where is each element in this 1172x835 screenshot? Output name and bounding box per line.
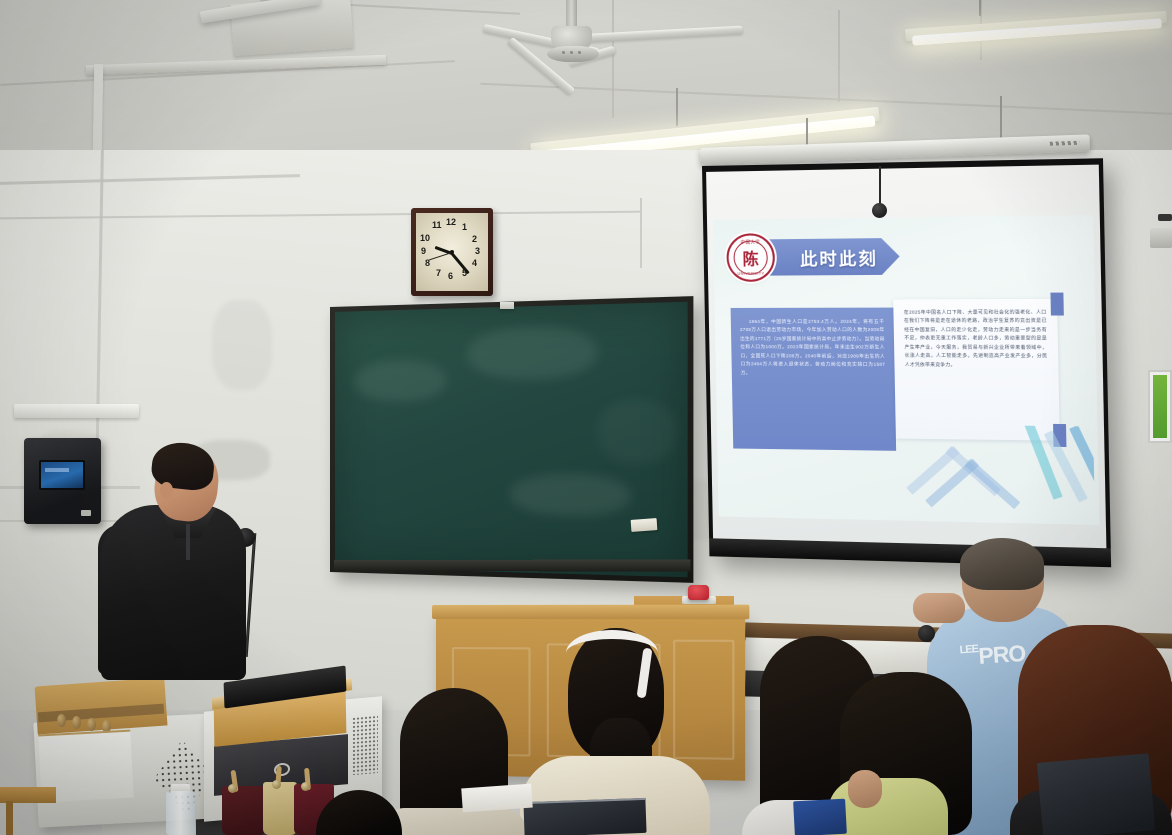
blue-folder: [793, 799, 847, 835]
seal-bottom-text: UNIVERSITY: [729, 271, 773, 276]
speaker-placket: [186, 524, 190, 560]
slide-title: 此时此刻: [800, 244, 878, 270]
clock-number: 10: [420, 233, 430, 243]
yellow-green-hand: [848, 770, 882, 808]
clock-number: 9: [421, 246, 426, 256]
handbag-maroon: [222, 786, 266, 835]
chalkboard-top-clip: [500, 302, 514, 309]
green-chalkboard: [330, 296, 693, 583]
clock-number: 7: [436, 268, 441, 278]
clock-number: 11: [432, 220, 442, 230]
clock-number: 1: [462, 222, 467, 232]
classroom-photo: 12 1 2 3 4 5 6 7 8 9 10 11: [0, 0, 1172, 835]
handbag-beige: [263, 782, 297, 835]
clock-second-hand: [429, 252, 452, 260]
red-emergency-button[interactable]: [688, 585, 709, 600]
control-panel-led: [81, 510, 91, 516]
wooden-stool-leg: [6, 801, 13, 835]
wall-av-control-panel[interactable]: [24, 438, 101, 524]
university-seal-icon: 中国大学 陈 UNIVERSITY: [726, 233, 775, 282]
paper-sheet: [461, 784, 533, 813]
screen-pull-cord[interactable]: [879, 166, 881, 206]
water-bottle: [166, 791, 195, 835]
clock-number: 3: [475, 246, 480, 256]
speaker-ear: [160, 482, 173, 499]
chalk-tray: [334, 560, 690, 572]
seal-center-char: 陈: [728, 245, 773, 270]
clock-minute-hand: [451, 252, 470, 274]
slide-text-box-left: 1964年，中国新生人口是2753.4万人。2024年，将有五千2708万人口退…: [731, 308, 897, 451]
projector-mount: [1150, 228, 1172, 248]
blue-shirt-hair: [960, 538, 1044, 590]
blue-shirt-hands: [913, 593, 965, 623]
clock-face: 12 1 2 3 4 5 6 7 8 9 10 11: [416, 213, 488, 291]
podium-speaker-grille-right: [352, 715, 378, 775]
panel-rail: [14, 404, 139, 418]
screen-surface: 此时此刻 中国大学 陈 UNIVERSITY 1964年，中国新生人口是2753…: [706, 165, 1106, 549]
slide-text-box-right: 在2025年中国名人口下降、大量可见和社会化的强老化、人口在我们下降将是走在退休…: [893, 299, 1060, 441]
slide-decoration-chevrons: [891, 424, 1095, 523]
laptop-right[interactable]: [1037, 753, 1155, 835]
control-panel-screen[interactable]: [39, 460, 85, 490]
wall-exit-sign: [1148, 370, 1172, 443]
slide-title-banner: 此时此刻 中国大学 陈 UNIVERSITY: [721, 236, 900, 278]
projector-mount-arm: [1158, 214, 1172, 221]
slide-right-paragraph: 在2025年中国名人口下降、大量可见和社会化的强老化、人口在我们下降将是走在退休…: [904, 308, 1048, 370]
presentation-slide: 此时此刻 中国大学 陈 UNIVERSITY 1964年，中国新生人口是2753…: [713, 215, 1099, 525]
accent-square-top-right: [1050, 293, 1063, 316]
clock-number: 6: [448, 271, 453, 281]
wall-clock: 12 1 2 3 4 5 6 7 8 9 10 11: [411, 208, 493, 296]
wristwatch: [918, 625, 935, 642]
chalk-eraser: [631, 518, 658, 532]
projector-screen: 此时此刻 中国大学 陈 UNIVERSITY 1964年，中国新生人口是2753…: [702, 158, 1111, 567]
slide-left-paragraph: 1964年，中国新生人口是2753.4万人。2024年，将有五千2708万人口退…: [740, 318, 886, 379]
clock-number: 2: [472, 234, 477, 244]
chalkboard-surface: [335, 302, 688, 578]
screen-pull-ball[interactable]: [872, 203, 887, 218]
clock-number: 4: [472, 258, 477, 268]
clock-number: 12: [446, 217, 456, 227]
